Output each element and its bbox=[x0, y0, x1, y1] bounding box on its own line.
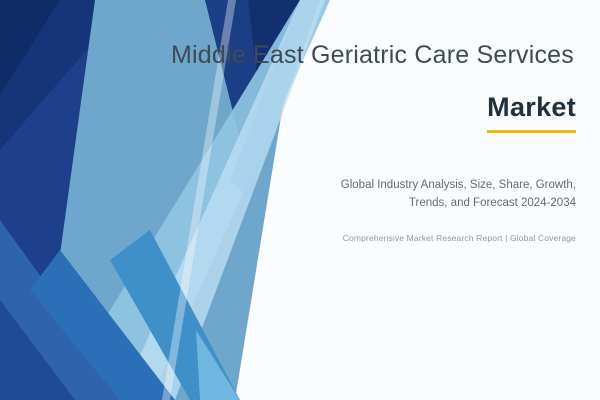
report-subtitle-line-1: Global Industry Analysis, Size, Share, G… bbox=[160, 177, 576, 195]
market-heading: Market bbox=[487, 93, 576, 123]
report-cover-page: Middle East Geriatric Care Services Mark… bbox=[0, 0, 600, 400]
report-subtitle-line-2: Trends, and Forecast 2024-2034 bbox=[160, 195, 576, 213]
market-heading-wrap: Market bbox=[160, 93, 576, 133]
page-title: Middle East Geriatric Care Services bbox=[160, 40, 576, 71]
accent-underline bbox=[487, 130, 576, 133]
cover-text-block: Middle East Geriatric Care Services Mark… bbox=[160, 0, 600, 400]
report-tagline: Comprehensive Market Research Report | G… bbox=[160, 233, 576, 243]
report-subtitle: Global Industry Analysis, Size, Share, G… bbox=[160, 177, 576, 213]
